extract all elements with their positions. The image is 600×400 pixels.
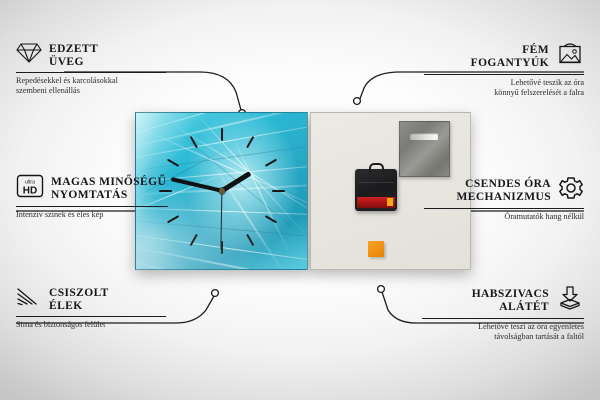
feature-desc: Intenzív színek és éles kép [16, 210, 168, 220]
diamond-icon [16, 42, 42, 69]
ultra-hd-large-text: HD [23, 186, 37, 197]
gear-icon [558, 176, 584, 205]
feature-foam-pad: HABSZIVACS ALÁTÉT Lehetővé teszi az óra … [422, 286, 584, 342]
hour-tick [221, 128, 223, 191]
divider [16, 316, 166, 317]
feature-title: CSISZOLT ÉLEK [49, 287, 109, 312]
feature-desc: Sima és biztonságos felület [16, 320, 166, 330]
feature-quiet-mechanism: CSENDES ÓRA MECHANIZMUS Óramutatók hang … [424, 176, 584, 222]
feature-title: MAGAS MINŐSÉGŰ NYOMTATÁS [51, 176, 166, 201]
feature-high-quality-print: ultra HD MAGAS MINŐSÉGŰ NYOMTATÁS Intenz… [16, 174, 168, 220]
battery [357, 197, 395, 208]
hour-tick [222, 190, 285, 192]
hanger-slot [410, 133, 438, 140]
feature-desc: Óramutatók hang nélkül [424, 212, 584, 222]
feature-desc: Repedésekkel és karcolásokkal szembeni e… [16, 76, 166, 96]
product-image [135, 112, 471, 270]
clock-mechanism [355, 169, 397, 211]
feature-title: EDZETT ÜVEG [49, 43, 98, 68]
feature-desc: Lehetővé teszik az óra könnyű felszerelé… [424, 78, 584, 98]
divider [16, 72, 166, 73]
divider [424, 208, 584, 209]
infographic-canvas: EDZETT ÜVEG Repedésekkel és karcolásokka… [0, 0, 600, 400]
divider [422, 318, 584, 319]
feature-metal-handles: FÉM FOGANTYÚK Lehetővé teszik az óra kön… [424, 42, 584, 98]
mechanism-seam [358, 182, 394, 183]
ultra-hd-icon: ultra HD [16, 174, 44, 203]
divider [424, 74, 584, 75]
feature-title: FÉM FOGANTYÚK [471, 44, 549, 69]
divider [16, 206, 168, 207]
feature-tempered-glass: EDZETT ÜVEG Repedésekkel és karcolásokka… [16, 42, 166, 96]
arrow-down-pad-icon [556, 286, 584, 315]
foam-spacer-pad [368, 241, 384, 257]
feature-desc: Lehetővé teszi az óra egyenletes távolsá… [422, 322, 584, 342]
metal-hanger-plate [399, 121, 450, 177]
feature-polished-edges: CSISZOLT ÉLEK Sima és biztonságos felüle… [16, 286, 166, 330]
feature-title: HABSZIVACS ALÁTÉT [472, 288, 549, 313]
picture-hanger-icon [556, 42, 584, 71]
feature-title: CSENDES ÓRA MECHANIZMUS [457, 178, 552, 203]
polished-edges-icon [16, 286, 42, 313]
mechanism-hanging-loop [369, 163, 384, 172]
clock-center-cap [219, 188, 225, 194]
